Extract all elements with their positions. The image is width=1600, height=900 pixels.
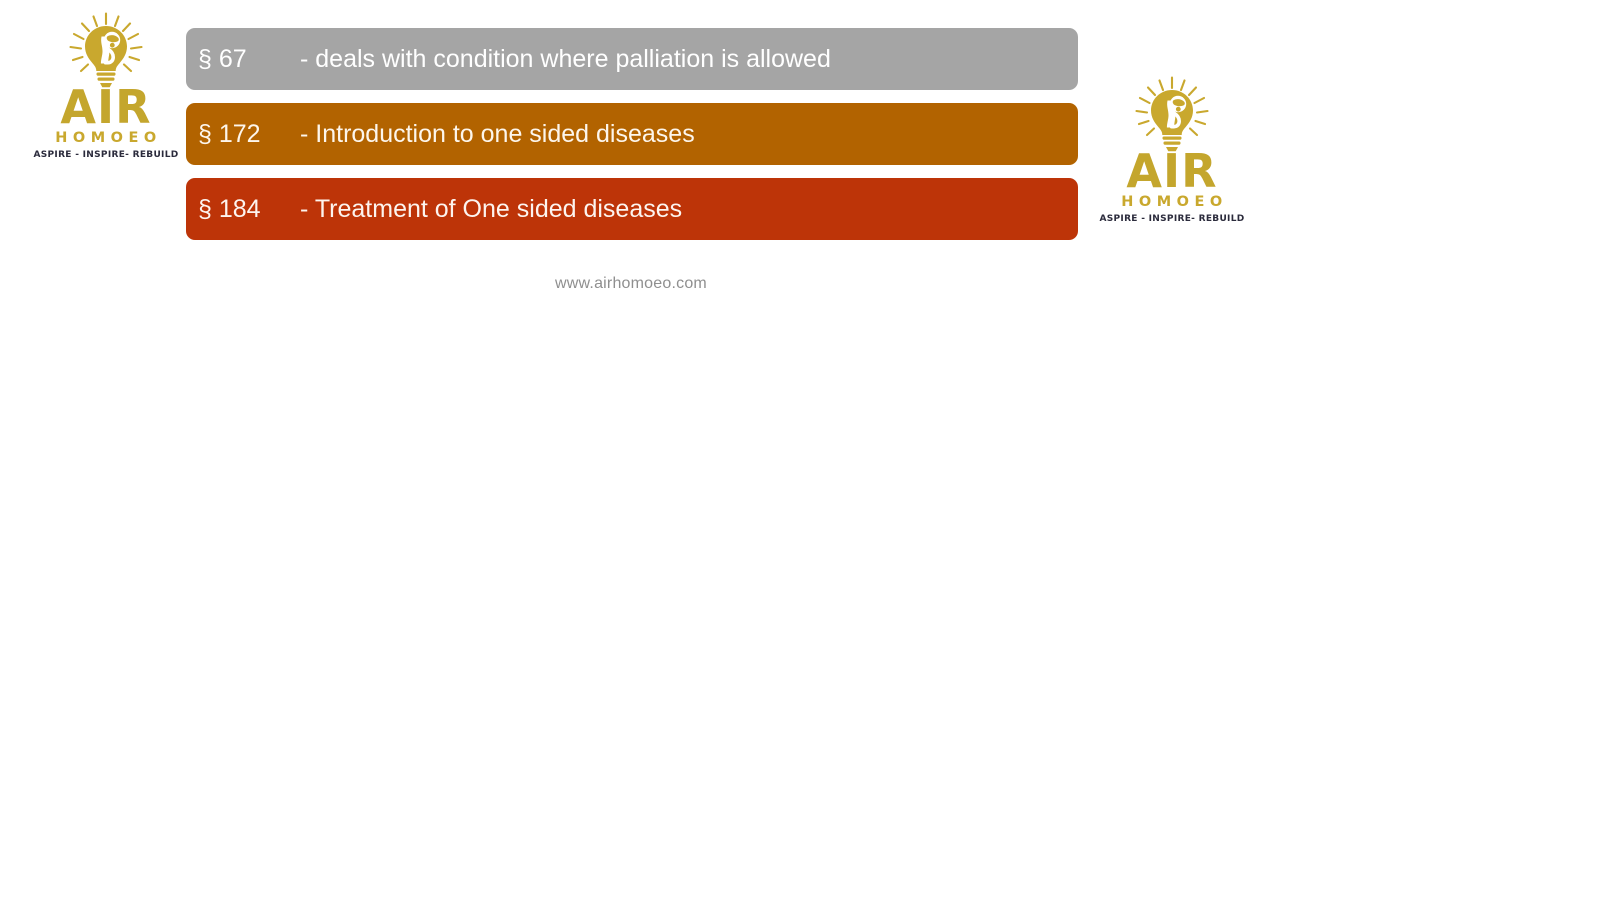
aphorism-bar-list: § 67 - deals with condition where pallia… bbox=[186, 28, 1078, 253]
brand-logo-right: AIR HOMOEO ASPIRE - INSPIRE- REBUILD bbox=[1108, 76, 1236, 224]
aphorism-description: - deals with condition where palliation … bbox=[300, 45, 1078, 74]
brand-subtitle: HOMOEO bbox=[1116, 194, 1227, 210]
brand-name: AIR bbox=[1126, 150, 1217, 192]
aphorism-number: § 67 bbox=[198, 45, 300, 74]
aphorism-number: § 184 bbox=[198, 195, 300, 224]
lightbulb-idea-icon bbox=[1126, 76, 1218, 152]
aphorism-number: § 172 bbox=[198, 120, 300, 149]
aphorism-bar[interactable]: § 67 - deals with condition where pallia… bbox=[186, 28, 1078, 90]
aphorism-bar[interactable]: § 184 - Treatment of One sided diseases bbox=[186, 178, 1078, 240]
aphorism-bar[interactable]: § 172 - Introduction to one sided diseas… bbox=[186, 103, 1078, 165]
brand-tagline: ASPIRE - INSPIRE- REBUILD bbox=[1099, 214, 1244, 224]
brand-logo-left: AIR HOMOEO ASPIRE - INSPIRE- REBUILD bbox=[42, 12, 170, 160]
aphorism-description: - Introduction to one sided diseases bbox=[300, 120, 1078, 149]
website-url[interactable]: www.airhomoeo.com bbox=[0, 275, 1262, 293]
lightbulb-idea-icon bbox=[60, 12, 152, 88]
brand-subtitle: HOMOEO bbox=[50, 130, 161, 146]
brand-tagline: ASPIRE - INSPIRE- REBUILD bbox=[33, 150, 178, 160]
aphorism-description: - Treatment of One sided diseases bbox=[300, 195, 1078, 224]
brand-name: AIR bbox=[60, 86, 151, 128]
